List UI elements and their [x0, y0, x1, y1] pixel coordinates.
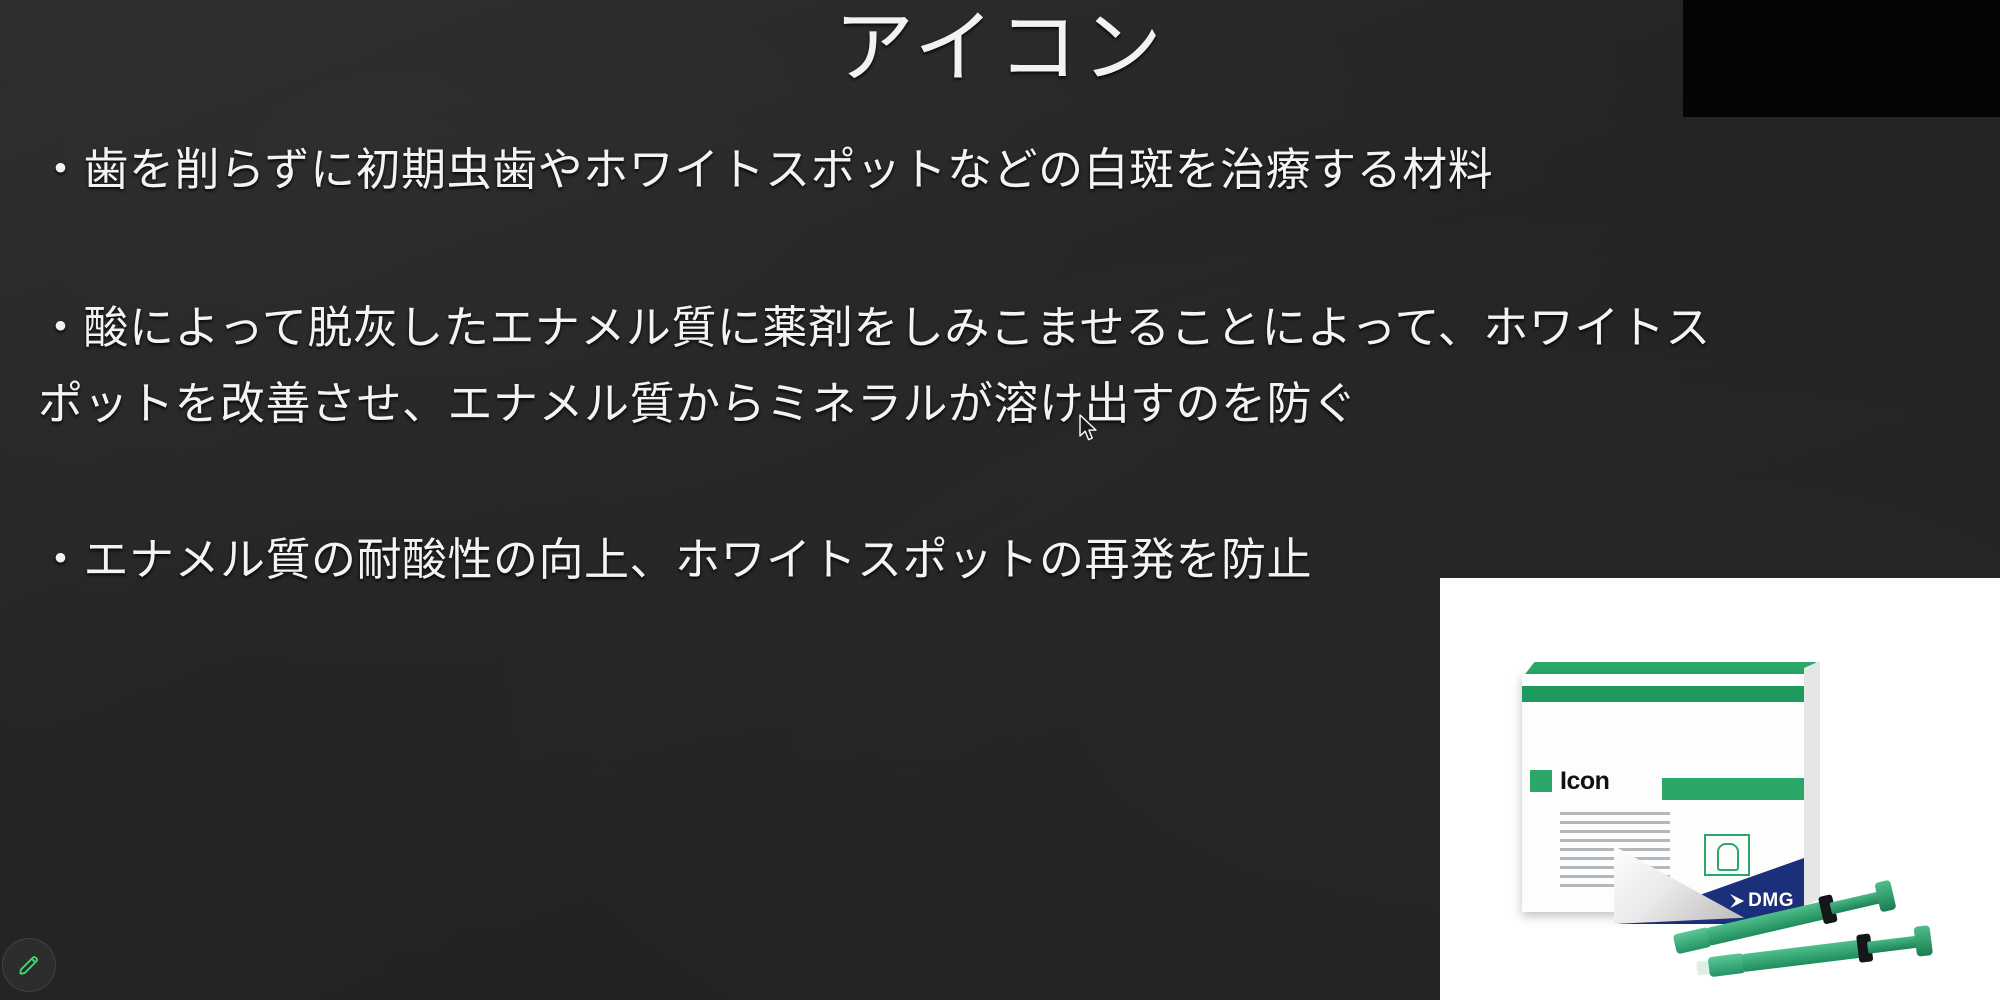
dmg-mark-icon [1730, 894, 1744, 908]
video-participant-tile[interactable] [1684, 0, 2000, 116]
box-top-green-band [1522, 686, 1804, 702]
slide-body: ・歯を削らずに初期虫歯やホワイトスポットなどの白斑を治療する材料 ・酸によって脱… [38, 132, 1838, 598]
product-box: Icon [1522, 662, 1822, 912]
caption-line [1560, 821, 1670, 824]
caption-line [1560, 830, 1670, 833]
product-image-overlay[interactable]: Icon [1440, 578, 2000, 1000]
paragraph-spacer [38, 208, 1838, 290]
product-photo: Icon [1440, 578, 2000, 1000]
paragraph-spacer [38, 442, 1838, 522]
bullet-2: ・酸によって脱灰したエナメル質に薬剤をしみこませることによって、ホワイトス ポッ… [38, 290, 1798, 442]
syringe-plunger [1867, 935, 1922, 953]
pen-icon [16, 952, 42, 978]
caption-line [1560, 812, 1670, 815]
product-name-label: Icon [1560, 764, 1609, 798]
syringe-barrel [1742, 939, 1871, 972]
box-green-tab [1530, 770, 1552, 792]
syringe-thumb-pad [1913, 925, 1933, 957]
tooth-icon [1704, 834, 1750, 876]
box-green-stripe [1662, 778, 1804, 800]
bullet-1: ・歯を削らずに初期虫歯やホワイトスポットなどの白斑を治療する材料 [38, 132, 1838, 208]
box-side-face [1804, 661, 1820, 906]
box-front-face: Icon [1522, 674, 1804, 912]
syringe-tip [1708, 953, 1746, 977]
caption-line [1560, 839, 1670, 842]
presentation-slide: アイコン ・歯を削らずに初期虫歯やホワイトスポットなどの白斑を治療する材料 ・酸… [0, 0, 2000, 1000]
annotation-pen-button[interactable] [2, 938, 56, 992]
syringe-thumb-pad [1874, 880, 1896, 913]
